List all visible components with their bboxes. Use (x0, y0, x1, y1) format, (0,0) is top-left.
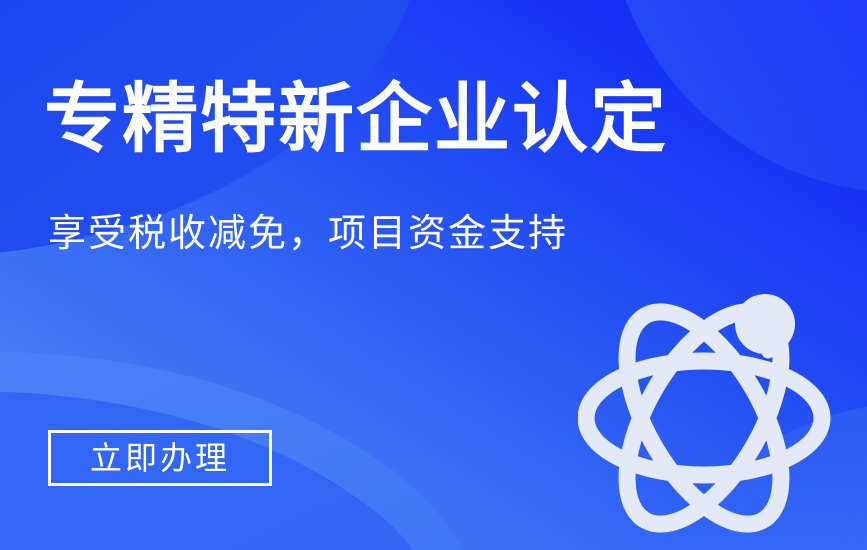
banner-subtitle: 享受税收减免，项目资金支持 (48, 212, 568, 258)
page-title: 专精特新企业认定 (44, 82, 668, 158)
cta-apply-now-button[interactable]: 立即办理 (48, 430, 272, 486)
banner-content: 专精特新企业认定 享受税收减免，项目资金支持 立即办理 (0, 0, 867, 550)
atom-electron (735, 294, 795, 354)
atom-icon (578, 282, 846, 544)
promo-banner: 专精特新企业认定 享受税收减免，项目资金支持 立即办理 (0, 0, 867, 550)
